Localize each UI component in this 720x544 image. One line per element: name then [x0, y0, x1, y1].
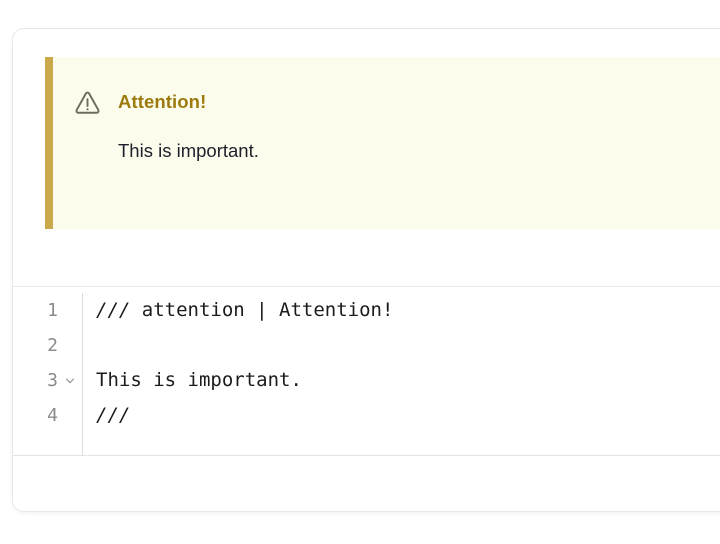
card-footer	[13, 456, 720, 511]
code-token-fence: ///	[96, 299, 142, 321]
code-token-text: This is important.	[96, 369, 302, 391]
code-line[interactable]: 3This is important.	[13, 363, 720, 398]
chevron-down-icon[interactable]	[58, 363, 82, 398]
callout-title: Attention!	[118, 93, 206, 112]
rendered-preview-pane: Attention! This is important.	[13, 29, 720, 287]
line-number: 1	[36, 293, 58, 328]
fold-slot-empty	[58, 293, 82, 328]
fold-slot-empty	[58, 398, 82, 433]
line-gutter: 3	[13, 363, 82, 398]
preview-card: Attention! This is important. 1/// atten…	[12, 28, 720, 512]
callout-header: Attention!	[53, 57, 720, 116]
code-editor-pane[interactable]: 1/// attention | Attention!23This is imp…	[13, 287, 720, 456]
gutter-divider	[82, 293, 83, 456]
line-number: 2	[36, 328, 58, 363]
warning-triangle-icon	[74, 89, 101, 116]
line-number: 4	[36, 398, 58, 433]
line-gutter: 1	[13, 293, 82, 328]
code-line-list: 1/// attention | Attention!23This is imp…	[13, 293, 720, 433]
fold-slot-empty	[58, 328, 82, 363]
code-token-text: attention | Attention!	[142, 299, 394, 321]
line-gutter: 4	[13, 398, 82, 433]
line-number: 3	[36, 363, 58, 398]
callout-body-text: This is important.	[53, 116, 720, 164]
code-line-text[interactable]: ///	[82, 398, 720, 433]
code-line-text[interactable]: /// attention | Attention!	[82, 293, 720, 328]
code-line[interactable]: 1/// attention | Attention!	[13, 293, 720, 328]
attention-callout: Attention! This is important.	[45, 57, 720, 229]
code-line[interactable]: 4///	[13, 398, 720, 433]
line-gutter: 2	[13, 328, 82, 363]
code-line-text[interactable]: This is important.	[82, 363, 720, 398]
code-line[interactable]: 2	[13, 328, 720, 363]
code-token-fence: ///	[96, 404, 130, 426]
